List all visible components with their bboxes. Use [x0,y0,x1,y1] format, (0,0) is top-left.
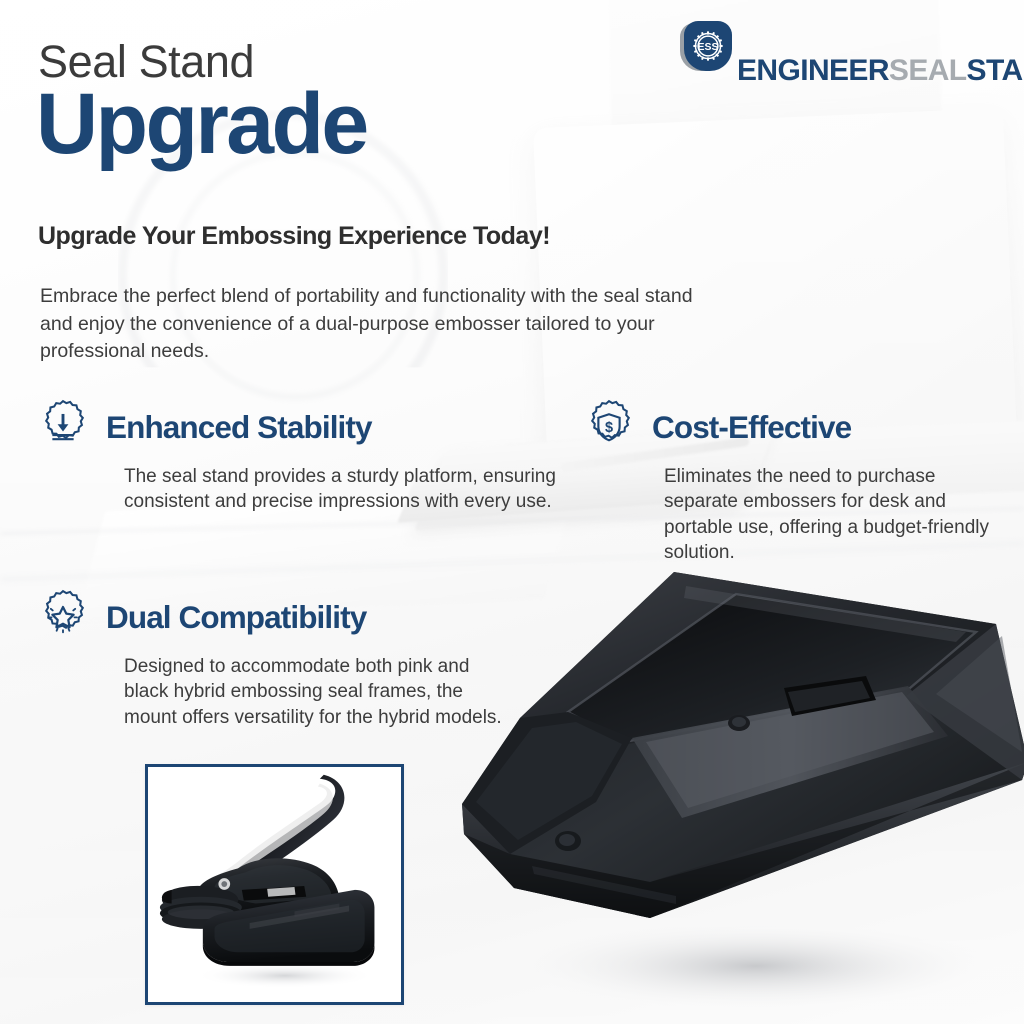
subheading: Upgrade Your Embossing Experience Today! [38,222,550,251]
gear-icon: ESS [689,27,727,65]
page-title: Upgrade [36,84,367,166]
intro-paragraph: Embrace the perfect blend of portability… [40,283,712,366]
feature-cost-effective: $ Cost-Effective Eliminates the need to … [580,398,1010,566]
main-product-photo [436,566,1024,1024]
star-sparkle-badge-icon [34,588,92,646]
brand-logo: ESS ENGINEER SEAL STAMPS .COM [680,8,1024,86]
dollar-glyph: $ [605,420,613,436]
feature-title: Dual Compatibility [106,599,366,636]
brand-wordmark: ENGINEER SEAL STAMPS .COM [737,8,1024,86]
ess-monogram: ESS [698,42,719,53]
ess-logo-badge-icon: ESS [680,21,732,73]
wordmark-stamps: STAMPS [967,56,1024,86]
feature-body: Eliminates the need to purchase separate… [664,464,1010,566]
feature-body: The seal stand provides a sturdy platfor… [124,464,574,515]
black-handheld-embosser-illustration [148,767,401,1002]
shield-dollar-badge-icon: $ [580,398,638,456]
inset-product-photo-frame [145,764,404,1005]
feature-dual-compatibility: Dual Compatibility Designed to accommoda… [34,588,504,730]
feature-enhanced-stability: Enhanced Stability The seal stand provid… [34,398,574,515]
feature-title: Enhanced Stability [106,409,372,446]
black-seal-stand-illustration [436,566,1024,1024]
wordmark-seal: SEAL [889,56,967,86]
feature-title: Cost-Effective [652,409,851,446]
wordmark-engineer: ENGINEER [737,56,889,86]
download-to-base-badge-icon [34,398,92,456]
